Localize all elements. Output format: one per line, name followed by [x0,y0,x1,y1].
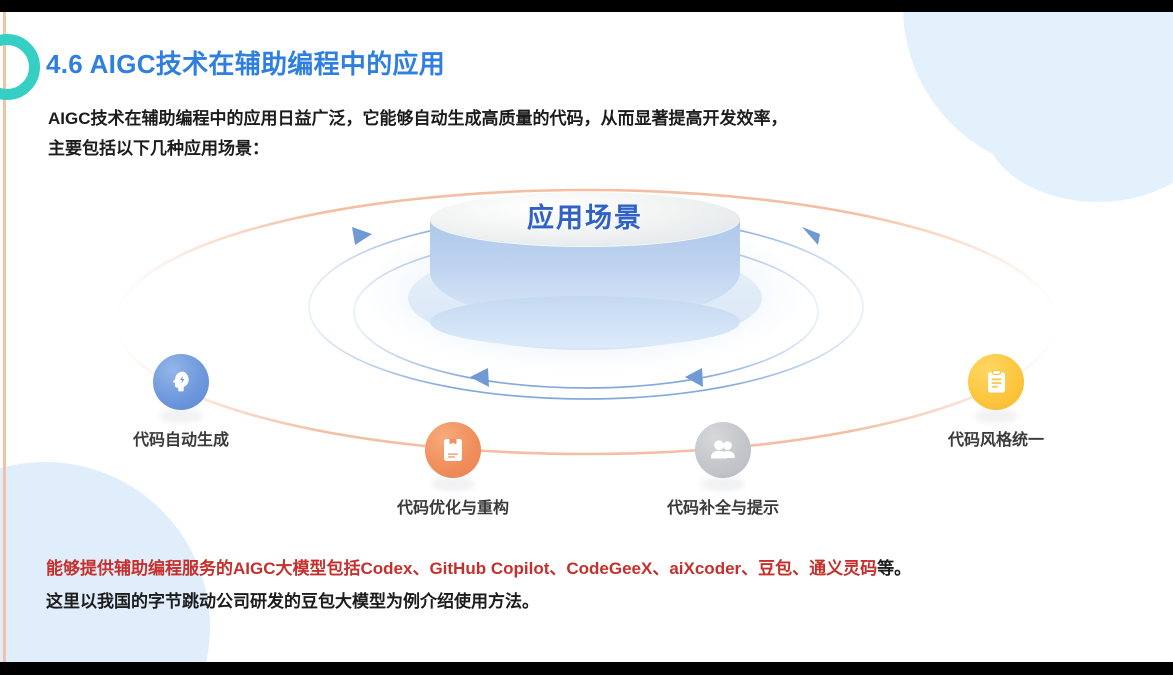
node-label-code-completion: 代码补全与提示 [613,494,833,518]
orbit-arrow-bottom-right [685,368,703,387]
decor-teal-ring-icon [0,34,40,100]
node-label-code-optimization: 代码优化与重构 [343,494,563,518]
letterbox-top [0,0,1173,12]
slide-root: 4.6 AIGC技术在辅助编程中的应用 AIGC技术在辅助编程中的应用日益广泛，… [0,0,1173,675]
application-scenarios-diagram: 应用场景 代码自动生成 [0,172,1173,532]
document-refactor-icon [441,437,465,463]
footnote-line-1: 能够提供辅助编程服务的AIGC大模型包括Codex、GitHub Copilot… [46,552,1156,585]
orbit-arrow-top-left [352,227,372,245]
checklist-document-icon [985,369,1008,395]
orbit-arrow-top-right [802,227,820,245]
intro-paragraph: AIGC技术在辅助编程中的应用日益广泛，它能够自动生成高质量的代码，从而显著提高… [48,104,1048,164]
node-circle-blue[interactable] [153,354,209,410]
footnote-highlight-text: 能够提供辅助编程服务的AIGC大模型包括Codex、GitHub Copilot… [46,559,877,578]
intro-line-1: AIGC技术在辅助编程中的应用日益广泛，它能够自动生成高质量的代码，从而显著提高… [48,104,1048,134]
orbit-arrow-bottom-left [470,368,489,387]
intro-line-2: 主要包括以下几种应用场景： [48,134,1048,164]
footnote-block: 能够提供辅助编程服务的AIGC大模型包括Codex、GitHub Copilot… [46,552,1156,618]
node-circle-yellow[interactable] [968,354,1024,410]
node-circle-orange[interactable] [425,422,481,478]
node-circle-grey[interactable] [695,422,751,478]
slide-page-surface: 4.6 AIGC技术在辅助编程中的应用 AIGC技术在辅助编程中的应用日益广泛，… [0,12,1173,662]
node-label-code-style: 代码风格统一 [886,426,1106,450]
users-icon [709,438,737,462]
center-podium: 应用场景 [430,194,740,344]
footnote-line-2: 这里以我国的字节跳动公司研发的豆包大模型为例介绍使用方法。 [46,585,1156,618]
center-label: 应用场景 [430,196,740,235]
node-label-code-generation: 代码自动生成 [71,426,291,450]
footnote-tail-text: 等。 [877,559,911,578]
page-title: 4.6 AIGC技术在辅助编程中的应用 [46,44,445,81]
letterbox-bottom [0,662,1173,675]
brain-head-icon [168,369,194,395]
